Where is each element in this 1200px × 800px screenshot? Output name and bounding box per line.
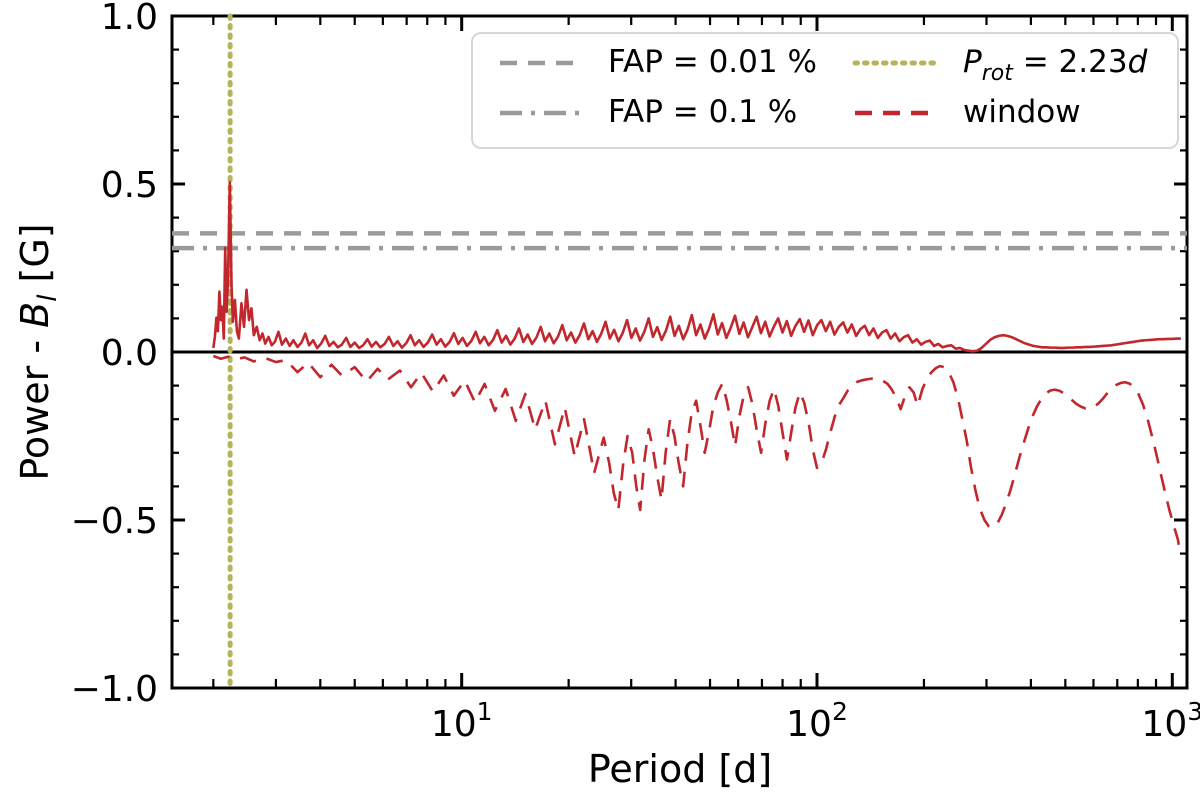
periodogram-chart: −1.0−0.50.00.51.0 101102103 Power - Bl [… bbox=[0, 0, 1200, 800]
y-tick-label: 1.0 bbox=[101, 0, 158, 38]
y-tick-label: 0.5 bbox=[101, 165, 158, 206]
legend-label-window: window bbox=[963, 94, 1081, 130]
y-axis-label: Power - Bl [G] bbox=[13, 223, 63, 480]
x-tick-labels: 101102103 bbox=[431, 697, 1200, 745]
y-tick-label: 0.0 bbox=[101, 333, 158, 374]
legend-label-fap-01: FAP = 0.1 % bbox=[608, 94, 797, 130]
y-tick-label: −1.0 bbox=[71, 669, 158, 710]
x-tick-label: 101 bbox=[431, 697, 493, 745]
y-label-symbol: B bbox=[13, 302, 57, 328]
y-tick-labels: −1.0−0.50.00.51.0 bbox=[71, 0, 158, 710]
chart-legend: FAP = 0.01 %FAP = 0.1 %Prot = 2.23dwindo… bbox=[472, 33, 1178, 148]
legend-label-fap-001: FAP = 0.01 % bbox=[608, 44, 817, 80]
y-label-suffix: [G] bbox=[13, 223, 57, 294]
x-axis-label: Period [d] bbox=[588, 747, 772, 791]
x-tick-label: 102 bbox=[786, 697, 848, 745]
y-tick-label: −0.5 bbox=[71, 501, 158, 542]
x-tick-label: 103 bbox=[1141, 697, 1200, 745]
y-label-prefix: Power - bbox=[13, 328, 57, 481]
svg-text:Power - Bl [G]: Power - Bl [G] bbox=[13, 223, 63, 480]
figure-container: −1.0−0.50.00.51.0 101102103 Power - Bl [… bbox=[0, 0, 1200, 800]
